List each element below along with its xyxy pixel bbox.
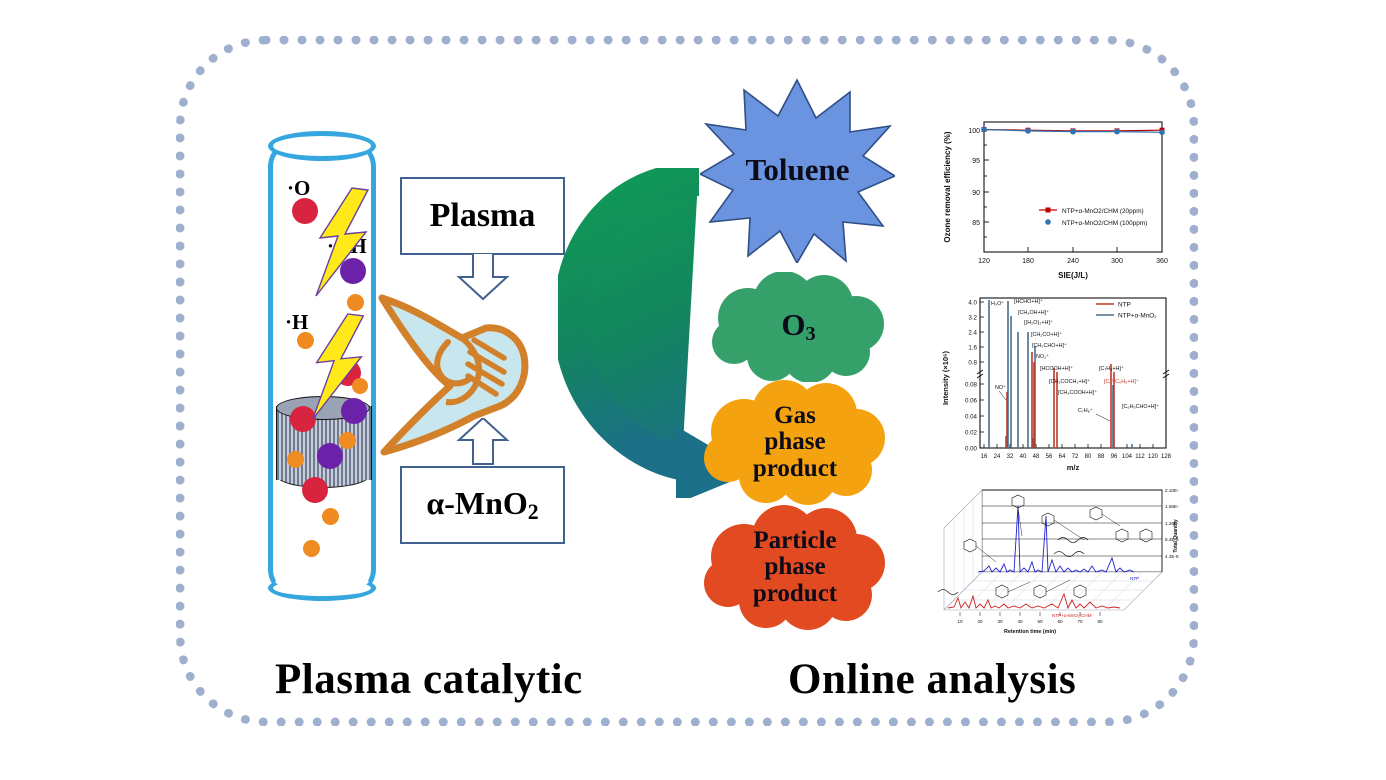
chart1-xtick-360: 360 — [1156, 258, 1168, 265]
chart2-ytick-3.2: 3.2 — [968, 315, 977, 322]
chart2-ytick-2.4: 2.4 — [968, 330, 977, 337]
section-caption-right: Online analysis — [788, 655, 1076, 704]
chart2-xtick-104: 104 — [1122, 454, 1133, 460]
chart1-ytick-100: 100 — [968, 128, 980, 135]
particle-h-radical — [287, 451, 304, 468]
chart3-xaxis-title: Retention time (min) — [1004, 629, 1056, 635]
chart2-peak-label-acetic: [CH₃COOH+H]⁺ — [1058, 390, 1097, 396]
plasma-label-text: Plasma — [430, 197, 536, 235]
chart3-xtick-20: 20 — [977, 619, 983, 624]
chart1-ytick-90: 90 — [972, 190, 980, 197]
chart1-xtick-300: 300 — [1111, 258, 1123, 265]
chart2-peak-label-acetone: [CH₃COCH₃+H]⁺ — [1049, 379, 1090, 385]
chart2-xtick-128: 128 — [1161, 454, 1172, 460]
chart3-ytick-5: 4.2E-8 — [1165, 554, 1179, 559]
chart2-ytick-4.0: 4.0 — [968, 300, 977, 307]
chart1-ytick-95: 95 — [972, 158, 980, 165]
chart3-ytick-2: 1.68E-7 — [1165, 504, 1179, 509]
chart2-legend-label-ntp-mno2: NTP+α-MnO₂ — [1118, 313, 1157, 320]
chart2-ytick-0.00: 0.00 — [965, 446, 978, 453]
chart2-ytick-0.02: 0.02 — [965, 430, 978, 437]
graphical-abstract-canvas: ·O ·OH ·H Plasma α-MnO2 — [0, 0, 1386, 780]
radical-label-h: ·H — [285, 310, 308, 335]
gas-product-cloud-shape: Gas phase product — [700, 380, 890, 505]
chart2-ytick-0.06: 0.06 — [965, 398, 978, 405]
chart2-xtick-120: 120 — [1148, 454, 1159, 460]
chart2-peak-label-ch3oh: [CH₃OH+H]⁺ — [1018, 310, 1049, 316]
chart2-peak-label-ch2co: [CH₂CO+H]⁺ — [1031, 332, 1062, 338]
section-caption-left: Plasma catalytic — [275, 655, 583, 704]
chart1-legend-label-100ppm: NTP+α-MnO2/CHM (100ppm) — [1062, 220, 1147, 227]
chart3-ytick-1: 2.10E-7 — [1165, 488, 1179, 493]
chart3-xtick-50: 50 — [1037, 619, 1043, 624]
chart2-xtick-40: 40 — [1020, 454, 1027, 460]
chart3-xtick-40: 40 — [1017, 619, 1023, 624]
chart2-peak-label-ch3cho: [CH₃CHO+H]⁺ — [1032, 343, 1067, 349]
particle-product-cloud-shape: Particle phase product — [700, 505, 890, 630]
chart2-ytick-0.04: 0.04 — [965, 414, 978, 421]
chart2-peak-label-benzald: [C₆H₅CHO+H]⁺ — [1122, 404, 1159, 410]
catalyst-label-text: α-MnO2 — [426, 485, 538, 525]
chart2-legend-label-ntp: NTP — [1118, 302, 1131, 309]
chart2-ytick-1.6: 1.6 — [968, 345, 977, 352]
chart2-xtick-96: 96 — [1111, 454, 1118, 460]
lightning-bolt-icon — [312, 186, 374, 301]
chart1-yaxis-title: Ozone removal efficiency (%) — [943, 131, 952, 242]
chart2-peak-label-no2: NO₂⁺ — [1036, 354, 1049, 360]
toluene-burst-shape: Toluene — [700, 78, 895, 263]
chart2-peak-label-c7h8: C₇H₈⁺ — [1078, 408, 1093, 414]
chart2-peak-label-h3o: H₃O⁺ — [991, 301, 1004, 307]
chart2-xtick-64: 64 — [1059, 454, 1066, 460]
chart3-xtick-10: 10 — [957, 619, 963, 624]
chart2-xtick-56: 56 — [1046, 454, 1053, 460]
chart2-peak-label-hcho: [HCHO+H]⁺ — [1014, 299, 1043, 305]
chart2-peak-label-h2o2: [(H₂O)₂+H]⁺ — [1024, 320, 1053, 326]
chart1-xtick-240: 240 — [1067, 258, 1079, 265]
chart2-xtick-16: 16 — [981, 454, 988, 460]
plasma-label-box: Plasma — [400, 177, 565, 255]
chart1-xaxis-title: SIE(J/L) — [1058, 271, 1088, 280]
chart2-xtick-88: 88 — [1098, 454, 1105, 460]
particle-oh-radical — [317, 443, 343, 469]
chart3-xtick-80: 80 — [1097, 619, 1103, 624]
chart3-xtick-70: 70 — [1077, 619, 1083, 624]
ozone-removal-chart: 100 95 90 85 120 180 240 300 360 SIE(J/L… — [936, 100, 1176, 285]
lightning-bolt-icon — [308, 312, 370, 424]
particle-o-radical — [302, 477, 328, 503]
chart2-ytick-0.08: 0.08 — [965, 382, 978, 389]
particle-h-radical — [322, 508, 339, 525]
tube-bottom-cap — [268, 575, 376, 601]
chart3-xtick-60: 60 — [1057, 619, 1063, 624]
chart2-xtick-24: 24 — [994, 454, 1001, 460]
chart2-xtick-72: 72 — [1072, 454, 1079, 460]
mass-spectrum-chart: 4.0 3.2 2.4 1.6 0.8 0.08 0.06 0.04 0.02 … — [936, 288, 1176, 483]
chart2-xtick-48: 48 — [1033, 454, 1040, 460]
chart2-yaxis-title: Intensity (×10⁶) — [941, 350, 950, 405]
chart1-ytick-85: 85 — [972, 220, 980, 227]
chart3-annotation-ntp-mno2: NTP+α-MnO₂/CHM — [1052, 613, 1092, 618]
ozone-cloud-shape: O3 — [706, 272, 891, 382]
catalyst-label-box: α-MnO2 — [400, 466, 565, 544]
chart2-xtick-80: 80 — [1085, 454, 1092, 460]
chart2-xtick-32: 32 — [1007, 454, 1014, 460]
chart3-xtick-30: 30 — [997, 619, 1003, 624]
particle-h-radical — [339, 432, 356, 449]
chart2-peak-label-hcooh: [HCOOH+H]⁺ — [1040, 366, 1073, 372]
handshake-icon — [378, 286, 538, 461]
chart1-xtick-180: 180 — [1022, 258, 1034, 265]
tube-top-ellipse — [268, 131, 376, 161]
chart2-peak-label-isotope: [C₆¹³C₆H₈+H]⁺ — [1104, 379, 1139, 385]
chart2-xtick-112: 112 — [1135, 454, 1145, 460]
particle-h-radical — [303, 540, 320, 557]
gcms-3d-chromatogram: 2.10E-7 1.68E-7 1.26E-7 8.4E-8 4.2E-8 To… — [934, 476, 1179, 646]
chart2-peak-label-no: NO⁺ — [995, 385, 1006, 391]
chart2-peak-label-toluene-h: [C₇H₈+H]⁺ — [1099, 366, 1124, 372]
chart2-ytick-0.8: 0.8 — [968, 360, 977, 367]
chart3-yaxis-title: Total Quantity — [1173, 519, 1179, 552]
chart1-xtick-120: 120 — [978, 258, 990, 265]
chart3-annotation-ntp: NTP — [1130, 576, 1139, 581]
radical-label-o: ·O — [287, 176, 310, 201]
chart2-xaxis-title: m/z — [1067, 463, 1080, 472]
chart1-legend-label-20ppm: NTP+α-MnO2/CHM (20ppm) — [1062, 208, 1144, 215]
